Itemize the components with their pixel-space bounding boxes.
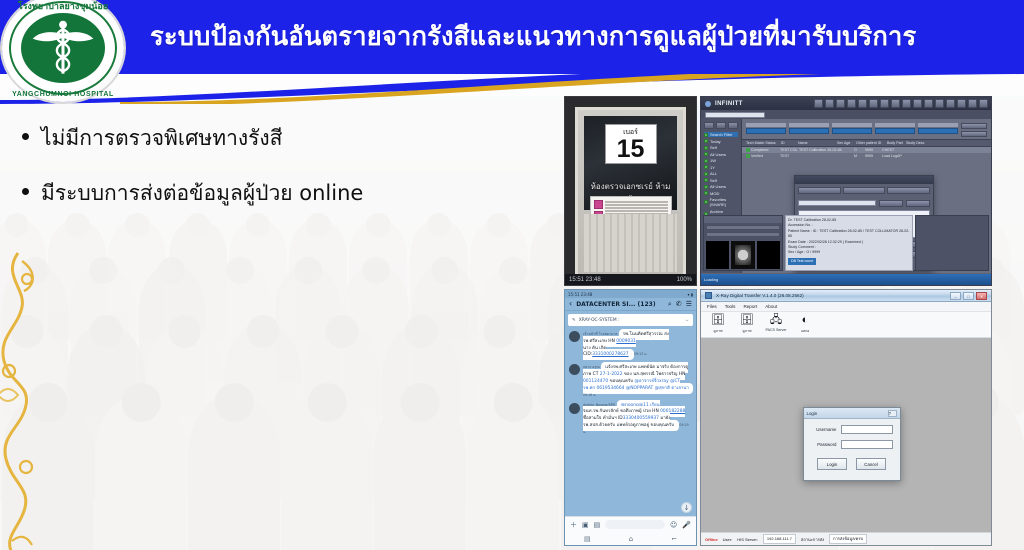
background-person-head	[215, 383, 254, 422]
cid-link[interactable]: 3331000278627	[592, 352, 628, 357]
line-message-composer[interactable]: ＋ ▣ ▤ ☺ 🎤	[565, 516, 696, 532]
search-icon[interactable]: ⌕	[668, 300, 672, 309]
tab-auto-routing	[887, 187, 930, 194]
add-label-button	[906, 200, 930, 207]
cell-sex-age: M	[854, 154, 864, 158]
cell-desc: CHEST	[882, 148, 902, 152]
preview-thumbnails[interactable]	[704, 241, 782, 269]
presentation-slide: ระบบป้องกันอันตรายจากรังสีและแนวทางการดู…	[0, 0, 1024, 550]
id-link[interactable]: 3330400559937	[623, 416, 659, 421]
toolbar-icon[interactable]	[979, 99, 988, 108]
phone-status-bar: 15:51 23:48 100%	[565, 274, 696, 285]
background-person	[374, 395, 466, 550]
app-icon	[705, 292, 712, 299]
info-line: Patient Name : ID : TEST Calibration 28-…	[788, 229, 910, 240]
password-field[interactable]	[841, 440, 893, 449]
tree-node[interactable]: Self	[704, 178, 738, 183]
background-person-head	[158, 257, 186, 285]
message-line: รพ.โนนคิดศรีสุวรรณ ส่ง	[623, 332, 669, 337]
pacs-subbar[interactable]	[701, 110, 991, 119]
pinned-note-label: XRAY-OC-SYSTEM :	[579, 318, 620, 323]
message-line: รพ.สปส.ด้วยครับ	[583, 423, 615, 428]
message-line: รพ.ศรีสะเกษ HN 0009031	[583, 339, 636, 344]
bullet-list: ไม่มีการตรวจพิเศษทางรังสี มีระบบการส่งต่…	[22, 122, 492, 232]
filter-buttons[interactable]	[961, 123, 987, 137]
android-nav-bar[interactable]: ▤ ⌂ ⌐	[565, 532, 696, 545]
tree-node[interactable]: Today	[704, 139, 738, 144]
toolbar-button-view[interactable]: ◐ แสดง	[794, 314, 816, 334]
connection-status: Offline	[705, 537, 718, 542]
window-title: X-Ray Digital Transfer V.1.4.0 (26.08.25…	[716, 293, 946, 298]
window-width-slider[interactable]	[706, 225, 780, 230]
line-phone-status-bar: 15:51 23:48 ▾ ▮	[565, 290, 696, 298]
hospital-logo: โรงพยาบาลยางชุมน้อย YANGCHUMNOI HOSPITAL	[2, 0, 124, 102]
status-chip	[746, 148, 750, 152]
maximize-button[interactable]: □	[963, 292, 974, 300]
import-icon: 🗄	[736, 314, 758, 327]
password-row: Password	[811, 440, 893, 449]
pacs-study-preview[interactable]	[703, 215, 783, 271]
background-person	[188, 395, 280, 550]
username-label: Username	[811, 427, 837, 432]
cancel-button[interactable]: Cancel	[856, 458, 886, 470]
toolbar-label: ดูภาพ	[736, 328, 758, 334]
tree-node[interactable]: Search Filter	[704, 132, 738, 137]
mention[interactable]: 0619534664 @NOPPARAT	[597, 386, 654, 391]
background-person-head	[308, 383, 347, 422]
tree-node[interactable]: Favorites (SHARE)	[704, 197, 738, 207]
home-icon[interactable]: ⌂	[629, 535, 633, 543]
pacs-title-bar: INFINITT	[701, 97, 991, 110]
pacs-side-panel	[915, 215, 989, 271]
toolbar-icon[interactable]	[913, 99, 922, 108]
cell-name	[799, 154, 853, 158]
menu-icon[interactable]: ☰	[686, 300, 692, 308]
retrieve-send-button	[879, 200, 903, 207]
xray-menu-bar[interactable]: Files Tools Report About	[701, 302, 991, 312]
column-header: Name	[798, 141, 836, 145]
list-item: ไม่มีการตรวจพิเศษทางรังสี	[22, 122, 492, 155]
screenshot-collage: เบอร์ 15 ห้องตรวจเอกซเรย์ ห้ามเข้า 15:51…	[560, 96, 992, 548]
thumbnail[interactable]	[706, 241, 729, 269]
column-header: Study Desc	[906, 141, 930, 145]
hn-link[interactable]: 001124470	[583, 379, 608, 384]
cell-name: TEST Calibration 28-02-85	[799, 148, 853, 152]
tree-node-label: ALL	[710, 171, 717, 176]
filter-patient-name[interactable]	[832, 123, 872, 137]
filter-study-date[interactable]	[789, 123, 829, 137]
cell-status: Verified	[751, 154, 779, 158]
filter-patient-id[interactable]	[746, 123, 786, 137]
background-person-head	[294, 257, 322, 285]
export-icon: 🗄	[707, 314, 729, 327]
message-time: 09:13 น.	[634, 352, 647, 356]
slide-header: ระบบป้องกันอันตรายจากรังสีและแนวทางการดู…	[0, 0, 1024, 74]
send-status-label: สถานะการส่ง	[801, 536, 824, 543]
back-icon[interactable]: ‹	[569, 300, 572, 308]
background-person	[467, 395, 559, 550]
list-item: กลาง อรุณ แจ้งรพ.ศรีสะเกษ แพทย์นัด มาจริ…	[569, 364, 692, 397]
tree-node-label: All Users	[710, 152, 726, 157]
message-line: ขอบคุณครับ	[610, 379, 634, 384]
tree-node[interactable]: All Users	[704, 184, 738, 189]
column-header: Tech Match Status	[746, 141, 780, 145]
cell-other-id: 9999	[865, 154, 881, 158]
background-person	[281, 395, 373, 550]
xray-room-door-photo: เบอร์ 15 ห้องตรวจเอกซเรย์ ห้ามเข้า 15:51…	[564, 96, 697, 286]
pin-icon: ✎	[572, 318, 576, 323]
help-button[interactable]: ?	[888, 410, 897, 417]
toolbar-icon[interactable]	[847, 99, 856, 108]
tab-dicom-destination	[843, 187, 886, 194]
toolbar-button-pacs-server[interactable]: 🖧 PACS Server	[765, 314, 787, 332]
tree-node[interactable]: All Users	[704, 152, 738, 157]
filter-exam-status[interactable]	[918, 123, 958, 137]
date-link[interactable]: 27-1-2022	[600, 372, 623, 377]
pacs-status-bar: Loading	[701, 274, 991, 285]
server-icon: 🖧	[765, 314, 787, 327]
dialog-tabs[interactable]	[795, 184, 933, 197]
background-person-head	[247, 315, 280, 348]
mic-icon[interactable]: 🎤	[682, 521, 691, 529]
back-icon[interactable]: ⌐	[671, 535, 677, 543]
column-header: ID	[781, 141, 797, 145]
line-chat-app[interactable]: 15:51 23:48 ▾ ▮ ‹ DATACENTER SI... (123)…	[564, 289, 697, 546]
xray-transfer-window[interactable]: X-Ray Digital Transfer V.1.4.0 (26.08.25…	[700, 289, 992, 546]
login-title-bar: Login ?	[804, 408, 900, 419]
pacs-filter-row[interactable]	[742, 119, 991, 139]
pinned-note[interactable]: ✎ XRAY-OC-SYSTEM : ⌄	[568, 314, 693, 326]
login-button[interactable]: Login	[817, 458, 847, 470]
xray-toolbar[interactable]: 🗄 ดูภาพ 🗄 ดูภาพ 🖧 PACS Server ◐ แสดง	[701, 312, 991, 338]
bullet-text: ไม่มีการตรวจพิเศษทางรังสี	[41, 122, 282, 155]
cell-desc: Load LogAP	[882, 154, 902, 158]
background-person-head	[404, 315, 437, 348]
column-header: Other patient ID	[856, 141, 886, 145]
emoji-icon[interactable]: ☺	[670, 521, 677, 529]
tree-node[interactable]: Self	[704, 145, 738, 150]
table-row[interactable]: Verified TEST M 9999 Load LogAP	[742, 153, 991, 159]
tree-node-label: Self	[710, 178, 717, 183]
pacs-study-info: Dr. TEST Calibration 28-02-85 Accession …	[785, 215, 913, 271]
tree-node[interactable]: 1W	[704, 158, 738, 163]
mention[interactable]: @noong@11 เรียน	[621, 403, 660, 408]
status-chip	[746, 154, 750, 158]
background-person	[95, 395, 187, 550]
pacs-app-icon	[705, 101, 711, 107]
tree-node[interactable]: ALL	[704, 171, 738, 176]
preview-header	[704, 216, 782, 223]
login-buttons: Login Cancel	[804, 458, 900, 470]
cell-other-id: 9999	[865, 148, 881, 152]
bullet-text: มีระบบการส่งต่อข้อมูลผู้ป่วย online	[41, 177, 363, 210]
results-table-header: Tech Match Status ID Name Sex Age Other …	[742, 139, 991, 147]
page-title: ระบบป้องกันอันตรายจากรังสีและแนวทางการดู…	[150, 17, 1010, 57]
message-input[interactable]	[605, 520, 665, 529]
caduceus-icon	[21, 13, 105, 83]
toolbar-icon[interactable]	[957, 99, 966, 108]
toolbar-icon[interactable]	[902, 99, 911, 108]
xray-status-bar: Offline User: HIS Server: 192.168.111.7 …	[701, 532, 991, 545]
dialog-title-bar	[795, 176, 933, 184]
background-person-head	[499, 257, 527, 285]
tree-node-label: Self	[710, 145, 717, 150]
chat-title-text: DATACENTER SI...	[576, 301, 635, 308]
bullet-dot-icon	[22, 188, 29, 195]
toolbar-icon[interactable]	[869, 99, 878, 108]
message-line: CID:3331000278627	[583, 352, 629, 357]
tree-node-label: Today	[710, 139, 721, 144]
tree-node-label: 1Y	[710, 165, 715, 170]
tree-node[interactable]: MOD	[704, 191, 738, 196]
hn-link[interactable]: 000182288	[660, 409, 685, 414]
thumbnail[interactable]	[757, 241, 780, 269]
login-dialog[interactable]: Login ? Username Password Login Cancel	[803, 407, 901, 481]
door-glass: เบอร์ 15 ห้องตรวจเอกซเรย์ ห้ามเข้า	[584, 116, 677, 210]
hn-link[interactable]: 0009031	[616, 339, 636, 344]
username-row: Username	[811, 425, 893, 434]
info-line: Sex / Age : O / 9999	[788, 250, 910, 255]
logo-english-name: YANGCHUMNOI HOSPITAL	[2, 91, 124, 98]
toolbar-label: แสดง	[794, 328, 816, 334]
toolbar-label: ดูภาพ	[707, 328, 729, 334]
tree-node[interactable]: 1Y	[704, 165, 738, 170]
cell-id: TEST	[780, 154, 798, 158]
filter-modality[interactable]	[875, 123, 915, 137]
find-button	[961, 123, 987, 129]
background-person-head	[326, 315, 359, 348]
user-label: User:	[723, 537, 733, 542]
window-controls[interactable]: – □ ✕	[950, 292, 987, 300]
username-field[interactable]	[841, 425, 893, 434]
message-line: ID3330400559937 มายัง	[618, 416, 671, 421]
door-lower-panel	[584, 214, 677, 272]
logo-thai-name: โรงพยาบาลยางชุมน้อย	[2, 0, 124, 13]
column-header: Body Part	[887, 141, 905, 145]
tree-node-label: All Users	[710, 184, 726, 189]
logo-core	[21, 13, 105, 83]
message-bubble: แจ้งรพ.ศรีสะเกษ แพทย์นัด มาจริง ต้องการด…	[583, 362, 693, 393]
column-header: Sex Age	[837, 141, 855, 145]
db-test-count-button[interactable]: DB Test count	[788, 258, 816, 265]
cell-status: Completed	[751, 148, 779, 152]
background-person-head	[431, 257, 459, 285]
menu-tools[interactable]: Tools	[725, 304, 736, 309]
window-level-slider[interactable]	[706, 232, 780, 237]
avatar[interactable]	[569, 364, 580, 375]
line-chat-header: ‹ DATACENTER SI... (123) ⌕ ✆ ☰	[565, 298, 696, 311]
message-time: 09:16 น.	[583, 393, 596, 397]
toolbar-icon[interactable]	[946, 99, 955, 108]
gold-flourish-decoration	[0, 245, 66, 550]
cell-id: TEST COL	[780, 148, 798, 152]
pacs-viewer-window[interactable]: INFINITT Search Filter	[700, 96, 992, 286]
toolbar-icon[interactable]	[891, 99, 900, 108]
list-item: เจ้าหน้าที่ โรงพยาบาล รพ.โนนคิดศรีสุวรรณ…	[569, 331, 692, 359]
chat-member-count: (123)	[638, 301, 656, 308]
call-icon[interactable]: ✆	[676, 300, 682, 308]
pacs-status-loading: Loading	[704, 277, 718, 282]
toolbar-icon[interactable]	[880, 99, 889, 108]
phone-battery: 100%	[677, 277, 692, 283]
background-person-head	[362, 257, 390, 285]
pacs-user-combo[interactable]	[705, 112, 765, 118]
send-status-value: การส่งข้อมูล/ครบ	[829, 534, 867, 544]
background-person-head	[483, 315, 516, 348]
toolbar-icon[interactable]	[814, 99, 823, 108]
mention[interactable]: @สุขาติ ตาเลานา	[655, 386, 689, 391]
tree-node-label: MOD	[710, 191, 719, 196]
background-person-head	[401, 383, 440, 422]
tab-local-destination	[798, 187, 841, 194]
login-dialog-title: Login	[807, 411, 818, 416]
thumbnail-selected[interactable]	[731, 241, 754, 269]
toolbar-icon[interactable]	[968, 99, 977, 108]
close-button[interactable]: ✕	[976, 292, 987, 300]
destination-select[interactable]	[798, 200, 876, 206]
door-frame: เบอร์ 15 ห้องตรวจเอกซเรย์ ห้ามเข้า	[575, 107, 686, 281]
menu-files[interactable]: Files	[707, 304, 717, 309]
toolbar-icon[interactable]	[924, 99, 933, 108]
tree-node-label: Favorites (SHARE)	[710, 197, 738, 207]
preview-sliders[interactable]	[704, 223, 782, 241]
room-number-value: 15	[606, 138, 656, 162]
bullet-dot-icon	[22, 133, 29, 140]
toolbar-icon[interactable]	[858, 99, 867, 108]
toolbar-button-export[interactable]: 🗄 ดูภาพ	[707, 314, 729, 334]
message-line: นาง ดัน เกิด	[583, 346, 606, 351]
background-person-head	[89, 315, 122, 348]
list-item: Admin Noong/SPS @noong@11 เรียน จนท.รพ.ก…	[569, 403, 692, 435]
pacs-toolbar[interactable]	[814, 99, 988, 108]
recents-icon[interactable]: ▤	[584, 535, 591, 543]
list-item: มีระบบการส่งต่อข้อมูลผู้ป่วย online	[22, 177, 492, 210]
message-list: เจ้าหน้าที่ โรงพยาบาล รพ.โนนคิดศรีสุวรรณ…	[565, 329, 696, 435]
pacs-brand: INFINITT	[715, 101, 743, 107]
toolbar-icon[interactable]	[935, 99, 944, 108]
background-person-head	[168, 315, 201, 348]
background-person-head	[494, 383, 533, 422]
avatar[interactable]	[569, 331, 580, 342]
clear-conditions-button	[961, 131, 987, 137]
message-line: จนท.รพ.กันทรลักษ์ ขอดึงภาพผู้	[583, 409, 642, 414]
background-person-head	[89, 257, 117, 285]
password-label: Password	[811, 442, 837, 447]
room-number-sign: เบอร์ 15	[605, 124, 657, 164]
phone-time: 15:51 23:48	[569, 277, 601, 283]
toolbar-label: PACS Server	[765, 328, 787, 332]
line-status-icons: ▾ ▮	[688, 292, 693, 297]
message-line: แจ้งรพ.ศรีสะเกษ แพทย์นัด มาจริง	[605, 365, 669, 370]
view-icon: ◐	[794, 314, 816, 327]
menu-report[interactable]: Report	[743, 304, 757, 309]
dialog-destination-row[interactable]	[798, 200, 930, 207]
xray-title-bar: X-Ray Digital Transfer V.1.4.0 (26.08.25…	[701, 290, 991, 302]
gallery-icon[interactable]: ▤	[594, 521, 601, 529]
menu-about[interactable]: About	[765, 304, 777, 309]
background-person-head	[226, 257, 254, 285]
camera-icon[interactable]: ▣	[582, 521, 589, 529]
server-value: 192.168.111.7	[763, 534, 796, 544]
cell-sex-age: O	[854, 148, 864, 152]
plus-icon[interactable]: ＋	[570, 520, 577, 530]
toolbar-icon[interactable]	[836, 99, 845, 108]
message-line: นส.สุพรรณี โพธารจริญ HN	[633, 372, 685, 377]
minimize-button[interactable]: –	[950, 292, 961, 300]
toolbar-icon[interactable]	[825, 99, 834, 108]
tree-node-label: 1W	[710, 158, 716, 163]
toolbar-button-import[interactable]: 🗄 ดูภาพ	[736, 314, 758, 334]
xray-workspace: Login ? Username Password Login Cancel	[701, 338, 991, 531]
message-line: แพทย์รอดูภาพอยู่ ขอบคุณครับ	[617, 423, 674, 428]
avatar[interactable]	[569, 403, 580, 414]
background-person-head	[122, 383, 161, 422]
chat-title: DATACENTER SI... (123)	[576, 301, 664, 308]
line-status-time: 15:51 23:48	[568, 292, 592, 297]
chevron-down-icon[interactable]: ⌄	[685, 317, 689, 323]
scroll-to-bottom-icon[interactable]: ↓	[681, 502, 692, 513]
tree-buttons[interactable]	[704, 122, 738, 129]
server-label: HIS Server:	[737, 537, 758, 542]
tree-node-label: Search Filter	[710, 132, 733, 137]
